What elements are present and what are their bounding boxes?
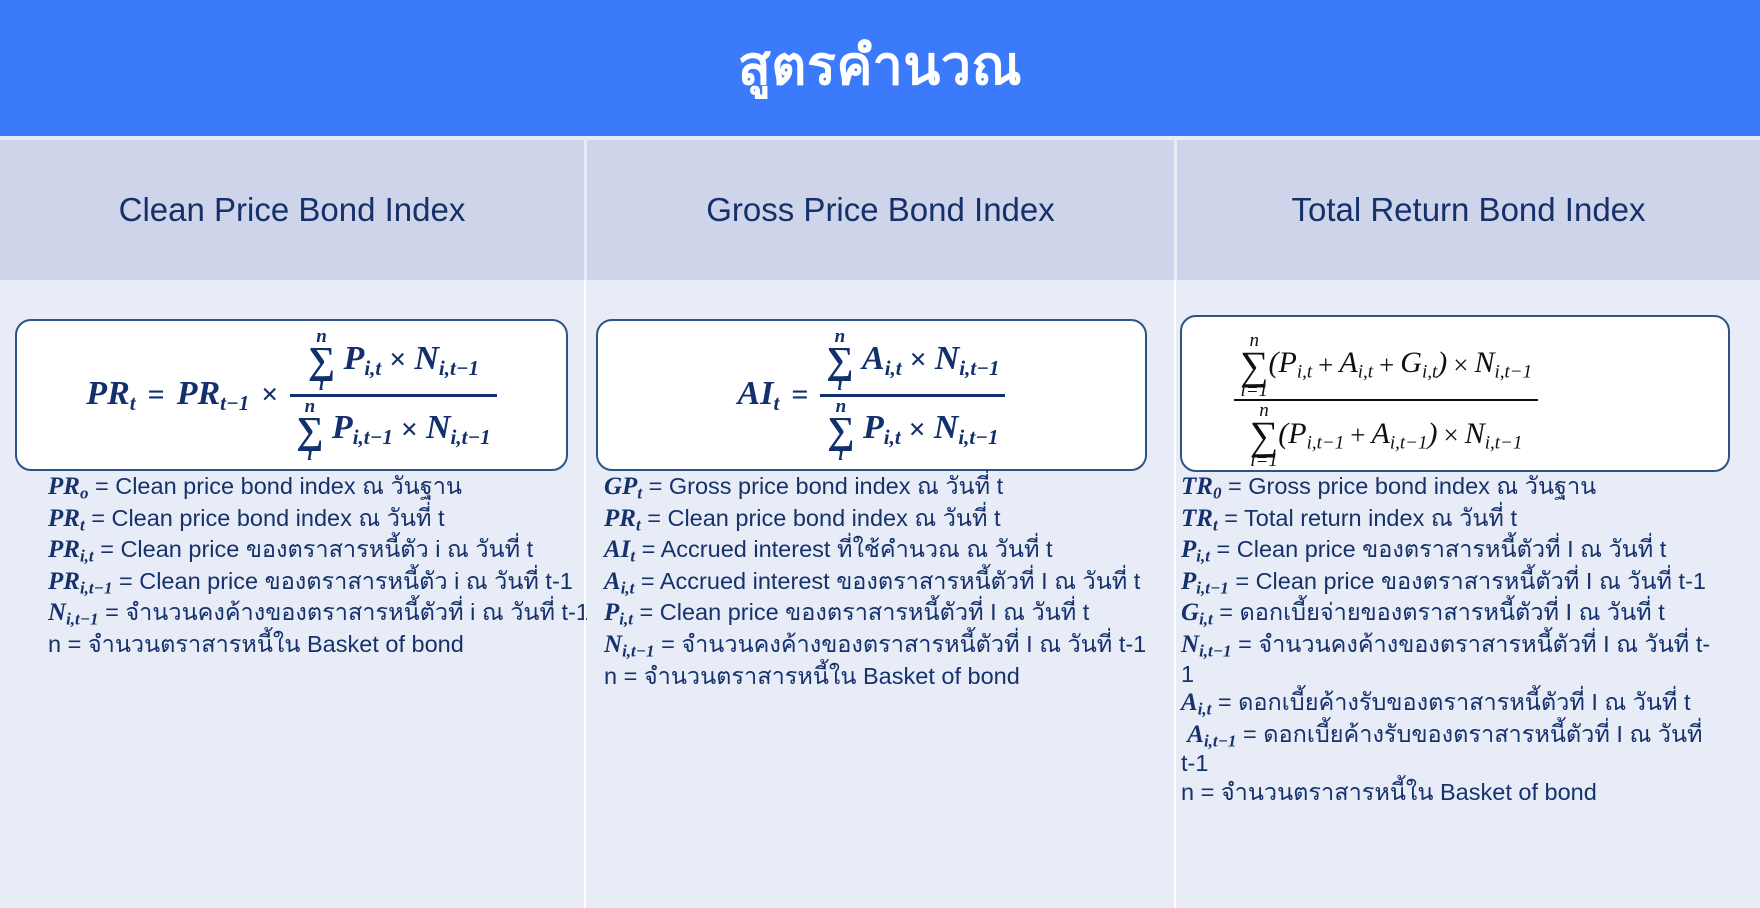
- summation-icon: n∑i=1: [1250, 403, 1279, 469]
- formula-fraction: n∑i=1 (Pi,t + Ai,t + Gi,t) × Ni,t−1: [1234, 331, 1538, 470]
- column-gross-price-bond-index: AIt = n∑i Ai,t × Ni,t−1: [587, 280, 1174, 908]
- column-header-gross-price: Gross Price Bond Index: [587, 140, 1174, 280]
- legend-text: = ดอกเบี้ยค้างรับของตราสารหนี้ตัวที่ I ณ…: [1181, 721, 1703, 777]
- legend-text: = Clean price bond index ณ วันที่ t: [91, 505, 444, 531]
- legend-text: = Clean price ของตราสารหนี้ตัว i ณ วันที…: [119, 568, 573, 594]
- legend-item: PRt = Clean price bond index ณ วันที่ t: [48, 505, 608, 535]
- slide-root: สูตรคำนวณ Clean Price Bond Index Gross P…: [0, 0, 1760, 908]
- columns-body: PRt = PRt−1 × n∑i Pi,t × Ni,t−1: [0, 280, 1760, 908]
- legend-symbol: Ni,t−1: [604, 631, 655, 661]
- formula-equals: =: [140, 378, 173, 412]
- legend-item: Ai,t = ดอกเบี้ยค้างรับของตราสารหนี้ตัวที…: [1181, 689, 1711, 719]
- legend-text: = จำนวนคงค้างของตราสารหนี้ตัวที่ I ณ วัน…: [1181, 631, 1710, 687]
- legend-total-return: TR0 = Gross price bond index ณ วันฐาน TR…: [1181, 473, 1711, 807]
- column-clean-price-bond-index: PRt = PRt−1 × n∑i Pi,t × Ni,t−1: [0, 280, 584, 908]
- legend-text: = Accrued interest ของตราสารหนี้ตัวที่ I…: [641, 568, 1140, 594]
- legend-text: = Gross price bond index ณ วันฐาน: [1228, 473, 1596, 499]
- legend-item: n = จำนวนตราสารหนี้ใน Basket of bond: [604, 663, 1164, 689]
- legend-text: = จำนวนคงค้างของตราสารหนี้ตัวที่ i ณ วัน…: [105, 599, 589, 625]
- legend-item: Ni,t−1 = จำนวนคงค้างของตราสารหนี้ตัวที่ …: [604, 631, 1164, 661]
- legend-item: Ni,t−1 = จำนวนคงค้างของตราสารหนี้ตัวที่ …: [48, 599, 608, 629]
- formula-term-ai-t: AIt: [738, 375, 780, 416]
- legend-item: Pi,t−1 = Clean price ของตราสารหนี้ตัวที่…: [1181, 568, 1711, 598]
- formula-box-total-return: n∑i=1 (Pi,t + Ai,t + Gi,t) × Ni,t−1: [1180, 315, 1730, 472]
- legend-item: Ai,t−1 = ดอกเบี้ยค้างรับของตราสารหนี้ตัว…: [1181, 721, 1711, 777]
- legend-item: Ni,t−1 = จำนวนคงค้างของตราสารหนี้ตัวที่ …: [1181, 631, 1711, 687]
- column-header-band: Clean Price Bond Index Gross Price Bond …: [0, 140, 1760, 280]
- legend-symbol: Pi,t−1: [1181, 568, 1229, 598]
- legend-item: Ai,t = Accrued interest ของตราสารหนี้ตัว…: [604, 568, 1164, 598]
- legend-text: = Clean price ของตราสารหนี้ตัวที่ I ณ วั…: [640, 599, 1090, 625]
- legend-symbol: PRo: [48, 473, 88, 503]
- legend-item: n = จำนวนตราสารหนี้ใน Basket of bond: [1181, 779, 1711, 805]
- summation-icon: n∑i: [296, 399, 323, 464]
- legend-text: = Total return index ณ วันที่ t: [1224, 505, 1517, 531]
- legend-symbol: PRt: [604, 505, 641, 535]
- legend-gross-price: GPt = Gross price bond index ณ วันที่ t …: [604, 473, 1164, 691]
- summation-icon: n∑i: [308, 329, 335, 394]
- formula-gross-price: AIt = n∑i Ai,t × Ni,t−1: [736, 327, 1008, 463]
- legend-item: AIt = Accrued interest ที่ใช้คำนวณ ณ วัน…: [604, 536, 1164, 566]
- legend-symbol: Pi,t: [1181, 536, 1210, 566]
- legend-text: = Clean price bond index ณ วันฐาน: [95, 473, 462, 499]
- column-header-clean-price: Clean Price Bond Index: [0, 140, 584, 280]
- legend-item: PRi,t−1 = Clean price ของตราสารหนี้ตัว i…: [48, 568, 608, 598]
- legend-item: Gi,t = ดอกเบี้ยจ่ายของตราสารหนี้ตัวที่ I…: [1181, 599, 1711, 629]
- legend-symbol: Gi,t: [1181, 599, 1213, 629]
- summation-icon: n∑i: [826, 329, 853, 394]
- formula-fraction: n∑i Ai,t × Ni,t−1 n∑i Pi,t ×: [820, 327, 1005, 463]
- legend-symbol: GPt: [604, 473, 642, 503]
- slide-title-bar: สูตรคำนวณ: [0, 0, 1760, 136]
- formula-term-pr-t: PRt: [86, 375, 135, 416]
- formula-box-clean-price: PRt = PRt−1 × n∑i Pi,t × Ni,t−1: [15, 319, 568, 471]
- legend-symbol: PRt: [48, 505, 85, 535]
- legend-text: = ดอกเบี้ยจ่ายของตราสารหนี้ตัวที่ I ณ วั…: [1219, 599, 1664, 625]
- legend-text: = Gross price bond index ณ วันที่ t: [649, 473, 1004, 499]
- legend-symbol: TRt: [1181, 505, 1218, 535]
- legend-symbol: TR0: [1181, 473, 1221, 503]
- legend-symbol: Ai,t−1: [1181, 721, 1236, 751]
- column-total-return-bond-index: n∑i=1 (Pi,t + Ai,t + Gi,t) × Ni,t−1: [1177, 280, 1760, 908]
- legend-text: = จำนวนคงค้างของตราสารหนี้ตัวที่ I ณ วัน…: [661, 631, 1146, 657]
- legend-text: = Clean price ของตราสารหนี้ตัว i ณ วันที…: [100, 536, 533, 562]
- legend-text: = Clean price ของตราสารหนี้ตัวที่ I ณ วั…: [1217, 536, 1667, 562]
- column-header-total-return: Total Return Bond Index: [1177, 140, 1760, 280]
- formula-total-return: n∑i=1 (Pi,t + Ai,t + Gi,t) × Ni,t−1: [1234, 331, 1760, 470]
- fraction-numerator: n∑i=1 (Pi,t + Ai,t + Gi,t) × Ni,t−1: [1234, 331, 1538, 399]
- fraction-numerator: n∑i Ai,t × Ni,t−1: [820, 327, 1005, 394]
- legend-item: Pi,t = Clean price ของตราสารหนี้ตัวที่ I…: [604, 599, 1164, 629]
- fraction-denominator: n∑i=1 (Pi,t−1 + Ai,t−1) × Ni,t−1: [1244, 401, 1529, 469]
- column-header-label: Clean Price Bond Index: [119, 191, 466, 229]
- legend-item: PRo = Clean price bond index ณ วันฐาน: [48, 473, 608, 503]
- column-header-label: Total Return Bond Index: [1291, 191, 1645, 229]
- legend-text: = Clean price ของตราสารหนี้ตัวที่ I ณ วั…: [1235, 568, 1706, 594]
- legend-item: PRi,t = Clean price ของตราสารหนี้ตัว i ณ…: [48, 536, 608, 566]
- legend-symbol: Ai,t: [1181, 689, 1211, 719]
- legend-symbol: PRi,t−1: [48, 568, 112, 598]
- legend-text: = Accrued interest ที่ใช้คำนวณ ณ วันที่ …: [642, 536, 1053, 562]
- legend-item: TR0 = Gross price bond index ณ วันฐาน: [1181, 473, 1711, 503]
- legend-symbol: PRi,t: [48, 536, 94, 566]
- fraction-numerator: n∑i Pi,t × Ni,t−1: [302, 327, 485, 394]
- legend-item: GPt = Gross price bond index ณ วันที่ t: [604, 473, 1164, 503]
- formula-box-gross-price: AIt = n∑i Ai,t × Ni,t−1: [596, 319, 1147, 471]
- column-header-label: Gross Price Bond Index: [706, 191, 1055, 229]
- legend-clean-price: PRo = Clean price bond index ณ วันฐาน PR…: [48, 473, 608, 659]
- legend-item: n = จำนวนตราสารหนี้ใน Basket of bond: [48, 631, 608, 657]
- legend-item: PRt = Clean price bond index ณ วันที่ t: [604, 505, 1164, 535]
- legend-text: = ดอกเบี้ยค้างรับของตราสารหนี้ตัวที่ I ณ…: [1218, 689, 1691, 715]
- summation-icon: n∑i: [827, 399, 854, 464]
- legend-symbol: Ni,t−1: [1181, 631, 1232, 661]
- formula-fraction: n∑i Pi,t × Ni,t−1 n∑i Pi,t−1: [290, 327, 496, 463]
- formula-term-pr-t-1: PRt−1: [177, 375, 250, 416]
- page-title: สูตรคำนวณ: [738, 38, 1022, 95]
- legend-item: Pi,t = Clean price ของตราสารหนี้ตัวที่ I…: [1181, 536, 1711, 566]
- legend-symbol: Ai,t: [604, 568, 634, 598]
- fraction-denominator: n∑i Pi,t × Ni,t−1: [821, 397, 1004, 464]
- legend-symbol: AIt: [604, 536, 635, 566]
- legend-text: n = จำนวนตราสารหนี้ใน Basket of bond: [1181, 779, 1597, 805]
- formula-times: ×: [253, 378, 286, 412]
- legend-text: n = จำนวนตราสารหนี้ใน Basket of bond: [48, 631, 464, 657]
- formula-clean-price: PRt = PRt−1 × n∑i Pi,t × Ni,t−1: [84, 327, 498, 463]
- legend-text: = Clean price bond index ณ วันที่ t: [647, 505, 1000, 531]
- legend-item: TRt = Total return index ณ วันที่ t: [1181, 505, 1711, 535]
- legend-symbol: Pi,t: [604, 599, 633, 629]
- formula-equals: =: [783, 378, 816, 412]
- fraction-denominator: n∑i Pi,t−1 × Ni,t−1: [290, 397, 496, 464]
- legend-text: n = จำนวนตราสารหนี้ใน Basket of bond: [604, 663, 1020, 689]
- summation-icon: n∑i=1: [1240, 333, 1269, 399]
- legend-symbol: Ni,t−1: [48, 599, 99, 629]
